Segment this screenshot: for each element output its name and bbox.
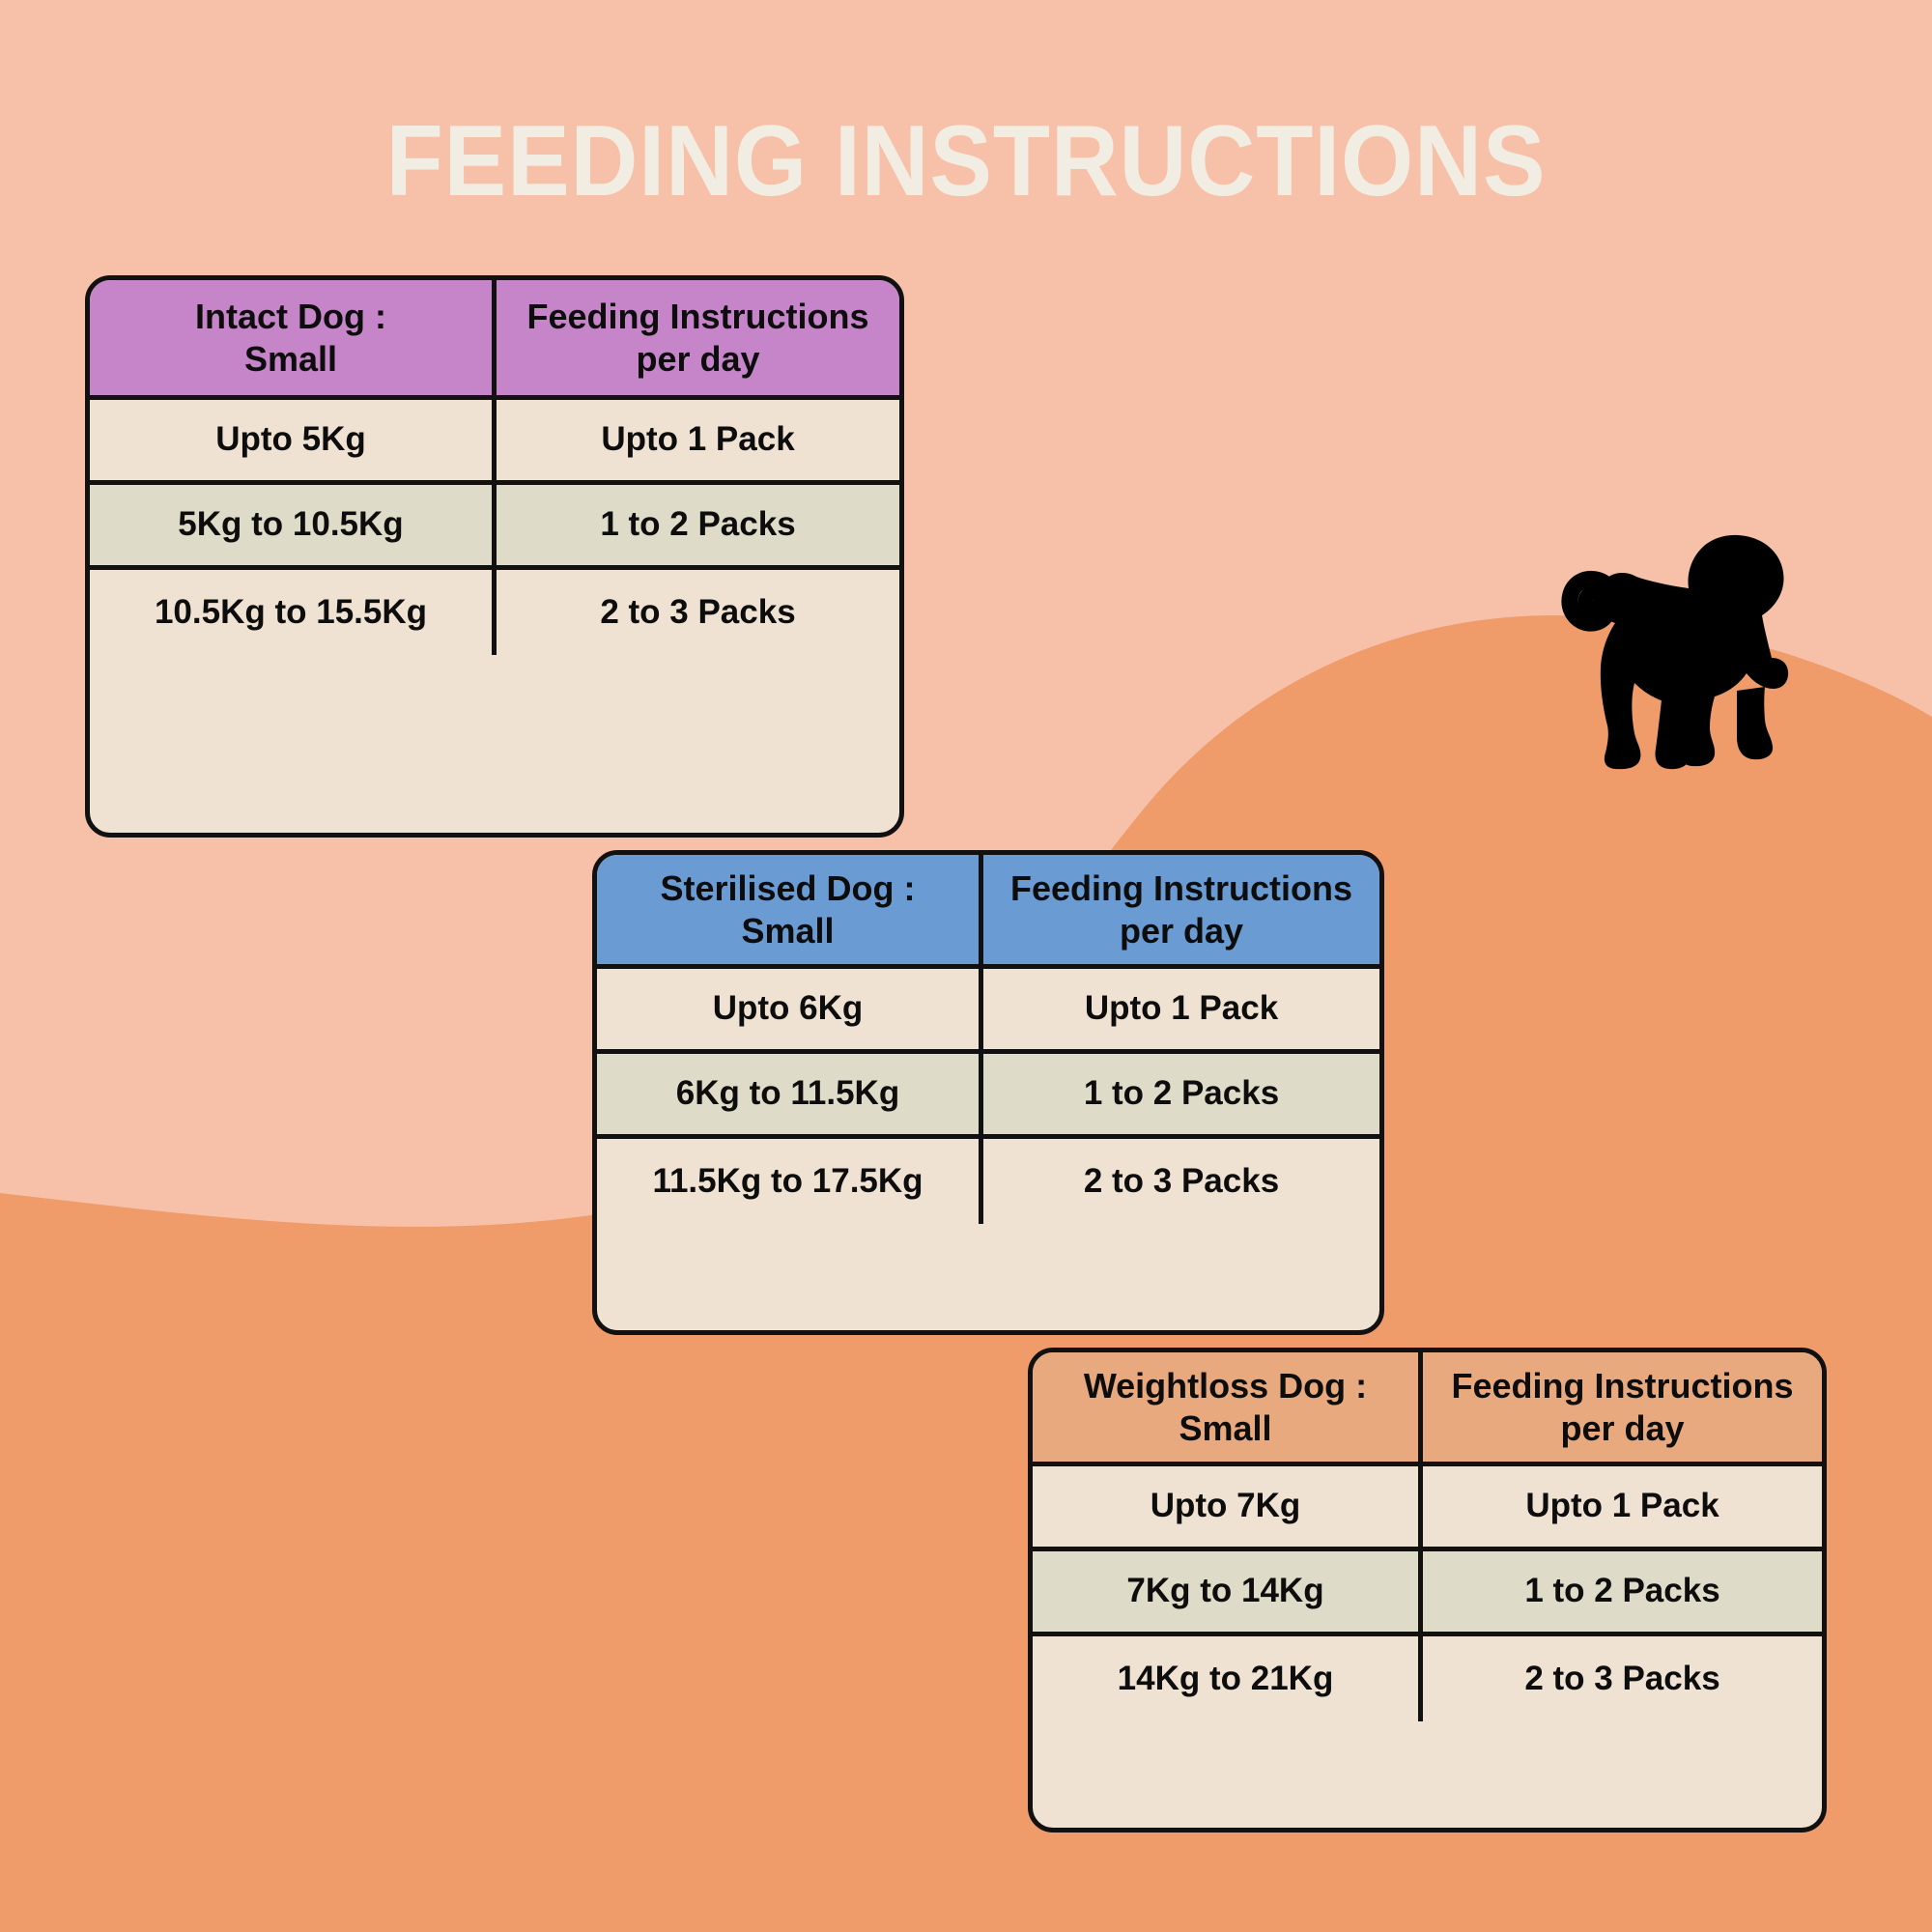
cell-weight-range: Upto 7Kg <box>1033 1466 1423 1547</box>
cell-weight-range: 6Kg to 11.5Kg <box>597 1054 983 1134</box>
table-row: 6Kg to 11.5Kg 1 to 2 Packs <box>597 1054 1379 1139</box>
header-line-2: Small <box>244 339 337 379</box>
cell-feeding-amount: 1 to 2 Packs <box>497 485 899 565</box>
header-line-2: per day <box>1560 1408 1684 1448</box>
cell-feeding-amount: 2 to 3 Packs <box>1423 1636 1822 1721</box>
header-line-1: Feeding Instructions <box>1451 1366 1793 1406</box>
cell-feeding-amount: Upto 1 Pack <box>983 969 1379 1049</box>
table-header-row: Weightloss Dog : Small Feeding Instructi… <box>1033 1352 1822 1466</box>
table-row: 10.5Kg to 15.5Kg 2 to 3 Packs <box>90 570 899 655</box>
header-cell-category: Weightloss Dog : Small <box>1033 1352 1423 1462</box>
header-cell-feeding: Feeding Instructions per day <box>1423 1352 1822 1462</box>
cell-feeding-amount: 1 to 2 Packs <box>983 1054 1379 1134</box>
header-line-1: Feeding Instructions <box>1010 868 1352 908</box>
pug-dog-silhouette-icon <box>1548 526 1799 782</box>
cell-weight-range: 5Kg to 10.5Kg <box>90 485 497 565</box>
header-line-2: per day <box>1120 911 1243 951</box>
cell-weight-range: 14Kg to 21Kg <box>1033 1636 1423 1721</box>
header-line-2: Small <box>741 911 834 951</box>
table-row: Upto 7Kg Upto 1 Pack <box>1033 1466 1822 1551</box>
header-line-2: per day <box>636 339 759 379</box>
table-row: 5Kg to 10.5Kg 1 to 2 Packs <box>90 485 899 570</box>
table-row: 14Kg to 21Kg 2 to 3 Packs <box>1033 1636 1822 1721</box>
table-row: Upto 6Kg Upto 1 Pack <box>597 969 1379 1054</box>
header-line-2: Small <box>1179 1408 1271 1448</box>
cell-feeding-amount: Upto 1 Pack <box>497 400 899 480</box>
table-header-row: Intact Dog : Small Feeding Instructions … <box>90 280 899 400</box>
table-weightloss-dog-small: Weightloss Dog : Small Feeding Instructi… <box>1028 1348 1827 1833</box>
header-line-1: Sterilised Dog : <box>660 868 915 908</box>
page-title: FEEDING INSTRUCTIONS <box>68 104 1864 219</box>
table-row: 7Kg to 14Kg 1 to 2 Packs <box>1033 1551 1822 1636</box>
cell-feeding-amount: 2 to 3 Packs <box>497 570 899 655</box>
table-sterilised-dog-small: Sterilised Dog : Small Feeding Instructi… <box>592 850 1384 1335</box>
header-cell-category: Intact Dog : Small <box>90 280 497 395</box>
cell-weight-range: 10.5Kg to 15.5Kg <box>90 570 497 655</box>
table-intact-dog-small: Intact Dog : Small Feeding Instructions … <box>85 275 904 838</box>
cell-weight-range: 11.5Kg to 17.5Kg <box>597 1139 983 1224</box>
cell-weight-range: Upto 6Kg <box>597 969 983 1049</box>
header-cell-category: Sterilised Dog : Small <box>597 855 983 964</box>
table-row: 11.5Kg to 17.5Kg 2 to 3 Packs <box>597 1139 1379 1224</box>
cell-feeding-amount: 2 to 3 Packs <box>983 1139 1379 1224</box>
header-cell-feeding: Feeding Instructions per day <box>497 280 899 395</box>
header-line-1: Weightloss Dog : <box>1084 1366 1367 1406</box>
cell-feeding-amount: 1 to 2 Packs <box>1423 1551 1822 1632</box>
cell-weight-range: Upto 5Kg <box>90 400 497 480</box>
header-line-1: Feeding Instructions <box>526 297 868 336</box>
header-cell-feeding: Feeding Instructions per day <box>983 855 1379 964</box>
cell-weight-range: 7Kg to 14Kg <box>1033 1551 1423 1632</box>
table-row: Upto 5Kg Upto 1 Pack <box>90 400 899 485</box>
cell-feeding-amount: Upto 1 Pack <box>1423 1466 1822 1547</box>
header-line-1: Intact Dog : <box>195 297 386 336</box>
table-header-row: Sterilised Dog : Small Feeding Instructi… <box>597 855 1379 969</box>
